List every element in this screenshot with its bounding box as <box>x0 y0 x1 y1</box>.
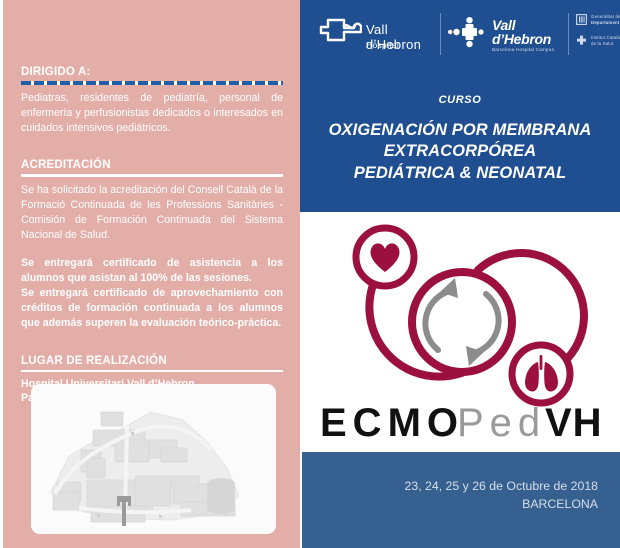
ecmo-pedvh-logo-panel: ECMO Ped VH <box>302 212 620 452</box>
left-info-panel: DIRIGIDO A: Pediatras, residentes de ped… <box>3 0 300 548</box>
course-title: OXIGENACIÓN POR MEMBRANA EXTRACORPÓREA P… <box>308 120 612 184</box>
ics-label: Institut Català de la Salut <box>591 35 620 47</box>
logo-circle-lungs <box>512 345 570 403</box>
logo-separator-1 <box>440 13 441 55</box>
logo-campus-line2: d’Hebron <box>492 31 551 47</box>
section-heading-lugar: LUGAR DE REALIZACIÓN <box>21 355 283 367</box>
campus-map-image <box>31 384 276 534</box>
brand-text-ecmo: ECMO <box>320 401 464 445</box>
paragraph-acreditacion-2: Se entregará certificado de asistencia a… <box>21 256 283 286</box>
spacer <box>21 243 283 256</box>
course-title-line-3: PEDIÁTRICA & NEONATAL <box>308 163 612 184</box>
ics-line1: Institut Català <box>591 35 620 40</box>
header-logo-bar: Vall dʼHebron Hospital Vall d’Hebron Bar… <box>300 0 620 68</box>
ics-cross-icon <box>576 35 587 46</box>
left-white-margin <box>0 0 3 548</box>
paragraph-acreditacion-1: Se ha solicitado la acreditación del Con… <box>21 183 283 243</box>
logo-ics: Institut Català de la Salut <box>576 35 620 47</box>
poster-root: DIRIGIDO A: Pediatras, residentes de ped… <box>0 0 620 548</box>
logo-campus-line3: Barcelona Hospital Campus <box>492 47 554 52</box>
course-kicker: CURSO <box>300 94 620 106</box>
section-heading-acreditacion: ACREDITACIÓN <box>21 159 283 171</box>
ics-line2: de la Salut <box>591 41 620 47</box>
divider-solid-acreditacion <box>21 174 283 177</box>
logo-vall-hebron-hospital: Vall dʼHebron Hospital <box>318 14 438 56</box>
generalitat-shield-icon <box>576 14 587 25</box>
brand-text-vh: VH <box>545 401 603 445</box>
divider-solid-lugar <box>21 370 283 373</box>
generalitat-label: Generalitat de Catalunya Departament de … <box>591 14 620 26</box>
section-dirigido-a: DIRIGIDO A: Pediatras, residentes de ped… <box>21 66 283 136</box>
footer-dates: 23, 24, 25 y 26 de Octubre de 2018 <box>405 478 598 496</box>
brand-text-ped: Ped <box>457 401 546 445</box>
course-title-block: CURSO OXIGENACIÓN POR MEMBRANA EXTRACORP… <box>300 68 620 212</box>
logo-generalitat-ics: Generalitat de Catalunya Departament de … <box>576 14 620 56</box>
footer-city: BARCELONA <box>405 496 598 514</box>
logo-separator-2 <box>568 13 569 55</box>
paragraph-acreditacion-3: Se entregará certificado de aprovechamie… <box>21 286 283 331</box>
footer-text: 23, 24, 25 y 26 de Octubre de 2018 BARCE… <box>405 478 598 514</box>
section-heading-dirigido-a: DIRIGIDO A: <box>21 66 283 78</box>
divider-dashed <box>21 81 283 85</box>
course-title-line-2: EXTRACORPÓREA <box>308 141 612 162</box>
paragraph-dirigido-a: Pediatras, residentes de pediatría, pers… <box>21 91 283 136</box>
generalitat-line1: Generalitat de Catalunya <box>591 14 620 19</box>
section-acreditacion: ACREDITACIÓN Se ha solicitado la acredit… <box>21 159 283 331</box>
footer-bar: 23, 24, 25 y 26 de Octubre de 2018 BARCE… <box>302 452 620 548</box>
course-title-line-1: OXIGENACIÓN POR MEMBRANA <box>308 120 612 141</box>
dotted-cross-icon <box>448 17 488 53</box>
logo-generalitat: Generalitat de Catalunya Departament de … <box>576 14 620 26</box>
logo-text-secondary: Hospital <box>366 40 399 50</box>
logo-vall-hebron-campus: Vall d’Hebron Barcelona Hospital Campus <box>448 13 568 57</box>
left-panel-content: DIRIGIDO A: Pediatras, residentes de ped… <box>21 66 283 406</box>
hospital-cross-wave-icon <box>318 16 362 56</box>
generalitat-line2: Departament de Salut <box>591 20 620 26</box>
